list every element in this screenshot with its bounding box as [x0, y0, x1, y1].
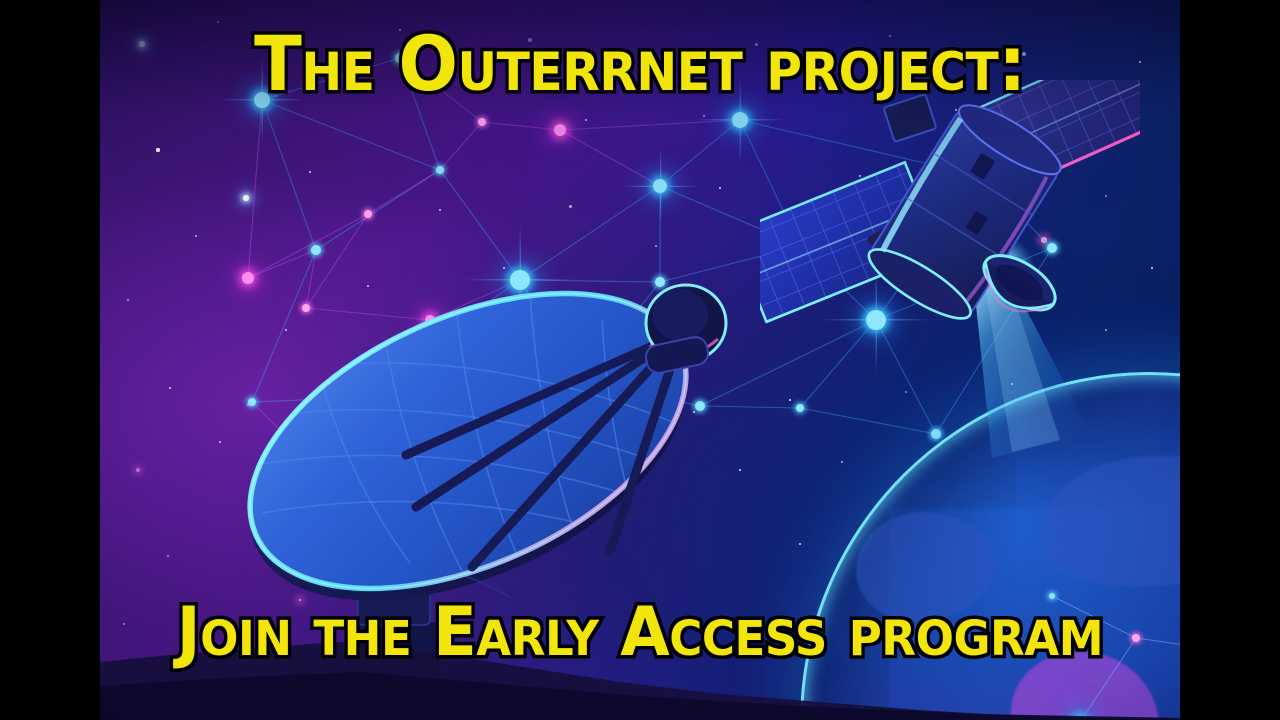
network-edge [660, 120, 740, 186]
network-node [554, 124, 566, 136]
network-edge [262, 58, 400, 100]
network-edge [560, 130, 660, 186]
network-node [254, 92, 270, 108]
satellite-antenna-box [884, 94, 937, 142]
dish-feed-horn [644, 285, 726, 375]
space-scene-artwork [100, 0, 1180, 720]
network-node [478, 118, 486, 126]
network-edge [368, 170, 440, 214]
network-edge [262, 100, 440, 170]
letterbox-bar-right [1180, 0, 1280, 720]
foreground-terrain [100, 590, 1180, 720]
network-node [395, 53, 405, 63]
network-edge [560, 120, 740, 130]
promo-banner: The Outerrnet project: Join the Early Ac… [0, 0, 1280, 720]
network-edge [440, 122, 482, 170]
network-node [732, 112, 748, 128]
network-edge [400, 58, 440, 170]
network-node [653, 179, 667, 193]
communications-satellite [760, 80, 1140, 410]
network-edge [482, 122, 560, 130]
network-node [436, 166, 444, 174]
letterbox-bar-left [0, 0, 100, 720]
dish-face [210, 233, 730, 648]
network-edge [400, 58, 482, 122]
